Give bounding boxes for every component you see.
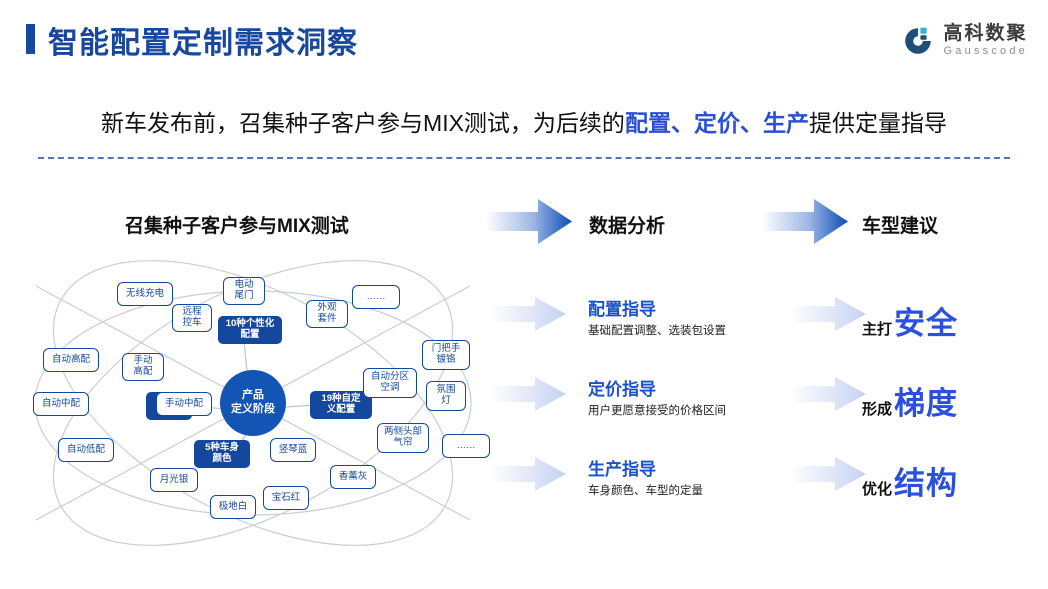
mindmap-node: 19种自定 义配置 [310, 391, 372, 419]
suggestion-keyword: 安全 [894, 298, 958, 343]
gausscode-logo-icon [901, 24, 935, 58]
soft-arrow-icon-4 [790, 297, 866, 331]
subtitle-part2: 提供定量指导 [809, 110, 947, 136]
mindmap-node: 自动低配 [58, 438, 114, 462]
analysis-desc: 用户更愿意接受的价格区间 [588, 405, 788, 419]
soft-arrow-icon-6 [790, 457, 866, 491]
mindmap-node: 月光银 [150, 468, 198, 492]
mindmap-node: 10种个性化 配置 [218, 316, 282, 344]
analysis-row-production: 生产指导 车身颜色、车型的定量 [588, 460, 788, 499]
analysis-title: 配置指导 [588, 300, 788, 320]
mindmap-node: …… [442, 434, 490, 458]
suggestion-prefix: 主打 [862, 318, 892, 339]
title-accent-bar [26, 24, 35, 54]
mindmap-node: 手动 高配 [122, 353, 164, 381]
mindmap-node: 5种车身 颜色 [194, 440, 250, 468]
subtitle-part1: 新车发布前，召集种子客户参与MIX测试，为后续的 [101, 110, 625, 136]
mindmap-node: 竖琴蓝 [270, 438, 316, 462]
soft-arrow-icon-5 [790, 377, 866, 411]
mindmap-core: 产品 定义阶段 [220, 370, 286, 436]
mindmap-node: …… [352, 285, 400, 309]
soft-arrow-icon-1 [490, 297, 566, 331]
suggestion-prefix: 优化 [862, 478, 892, 499]
column-header-collect: 召集种子客户参与MIX测试 [125, 211, 349, 238]
logo-name-cn: 高科数聚 [944, 24, 1028, 44]
mindmap-node: 氛围 灯 [426, 381, 466, 411]
soft-arrow-icon-2 [490, 377, 566, 411]
mindmap-node: 门把手 镀铬 [422, 340, 470, 370]
mindmap-node: 电动 尾门 [223, 277, 265, 305]
column-header-suggestion: 车型建议 [862, 211, 938, 238]
suggestion-row-safety: 主打 安全 [862, 298, 958, 343]
flow-arrow-icon-1 [486, 199, 572, 244]
mindmap-node: 极地白 [210, 495, 256, 519]
mindmap-cluster: 产品 定义阶段 10种个性化 配置5款 车型19种自定 义配置5种车身 颜色 无… [18, 258, 488, 548]
mindmap-node: 手动中配 [156, 392, 212, 416]
analysis-desc: 车身颜色、车型的定量 [588, 485, 788, 499]
column-header-analysis: 数据分析 [589, 211, 665, 238]
mindmap-node: 自动分区 空调 [363, 368, 417, 398]
suggestion-keyword: 结构 [894, 458, 958, 503]
page-title: 智能配置定制需求洞察 [48, 18, 358, 62]
section-divider [38, 157, 1010, 159]
analysis-desc: 基础配置调整、选装包设置 [588, 325, 788, 339]
mindmap-node: 两侧头部 气帘 [377, 423, 429, 453]
flow-arrow-icon-2 [762, 199, 848, 244]
analysis-title: 定价指导 [588, 380, 788, 400]
analysis-row-config: 配置指导 基础配置调整、选装包设置 [588, 300, 788, 339]
logo-text: 高科数聚 Gausscode [944, 24, 1028, 58]
soft-arrow-icon-3 [490, 457, 566, 491]
suggestion-row-tier: 形成 梯度 [862, 378, 958, 423]
analysis-row-pricing: 定价指导 用户更愿意接受的价格区间 [588, 380, 788, 419]
mindmap-node: 自动中配 [33, 392, 89, 416]
slide-header: 智能配置定制需求洞察 高科数聚 Gausscode [0, 0, 1048, 78]
suggestion-row-structure: 优化 结构 [862, 458, 958, 503]
subtitle-highlight: 配置、定价、生产 [625, 110, 809, 136]
brand-logo: 高科数聚 Gausscode [901, 18, 1028, 64]
suggestion-keyword: 梯度 [894, 378, 958, 423]
mindmap-node: 无线充电 [117, 282, 173, 306]
mindmap-node: 自动高配 [43, 348, 99, 372]
mindmap-node: 香薰灰 [330, 465, 376, 489]
slide-root: 智能配置定制需求洞察 高科数聚 Gausscode 新车发布前，召集种子客户参与… [0, 0, 1048, 589]
suggestion-prefix: 形成 [862, 398, 892, 419]
logo-name-en: Gausscode [944, 44, 1028, 58]
mindmap-node: 外观 套件 [306, 300, 348, 328]
subtitle-line: 新车发布前，召集种子客户参与MIX测试，为后续的配置、定价、生产提供定量指导 [0, 104, 1048, 138]
analysis-title: 生产指导 [588, 460, 788, 480]
mindmap-node: 远程 控车 [172, 304, 212, 332]
mindmap-node: 宝石红 [263, 486, 309, 510]
